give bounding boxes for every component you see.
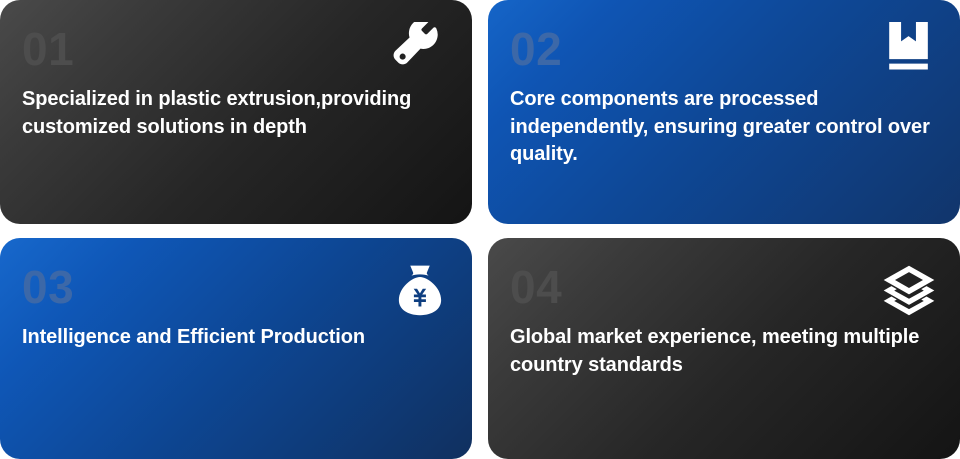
layers-stack-icon (882, 264, 936, 318)
feature-card-01[interactable]: 01 Specialized in plastic extrusion,prov… (0, 0, 472, 224)
card-title-01: Specialized in plastic extrusion,providi… (22, 86, 450, 141)
money-bag-yen-icon (394, 264, 446, 316)
card-number-03: 03 (22, 264, 450, 310)
card-title-04: Global market experience, meeting multip… (510, 324, 938, 379)
card-number-04: 04 (510, 264, 938, 310)
feature-card-02[interactable]: 02 Core components are processed indepen… (488, 0, 960, 224)
feature-card-grid: 01 Specialized in plastic extrusion,prov… (0, 0, 960, 459)
wrench-icon (392, 22, 446, 76)
feature-card-03[interactable]: 03 Intelligence and Efficient Production (0, 238, 472, 459)
card-title-03: Intelligence and Efficient Production (22, 324, 450, 352)
book-bookmark-icon (886, 22, 934, 74)
card-number-01: 01 (22, 26, 450, 72)
card-title-02: Core components are processed independen… (510, 86, 938, 169)
feature-card-04[interactable]: 04 Global market experience, meeting mul… (488, 238, 960, 459)
card-number-02: 02 (510, 26, 938, 72)
